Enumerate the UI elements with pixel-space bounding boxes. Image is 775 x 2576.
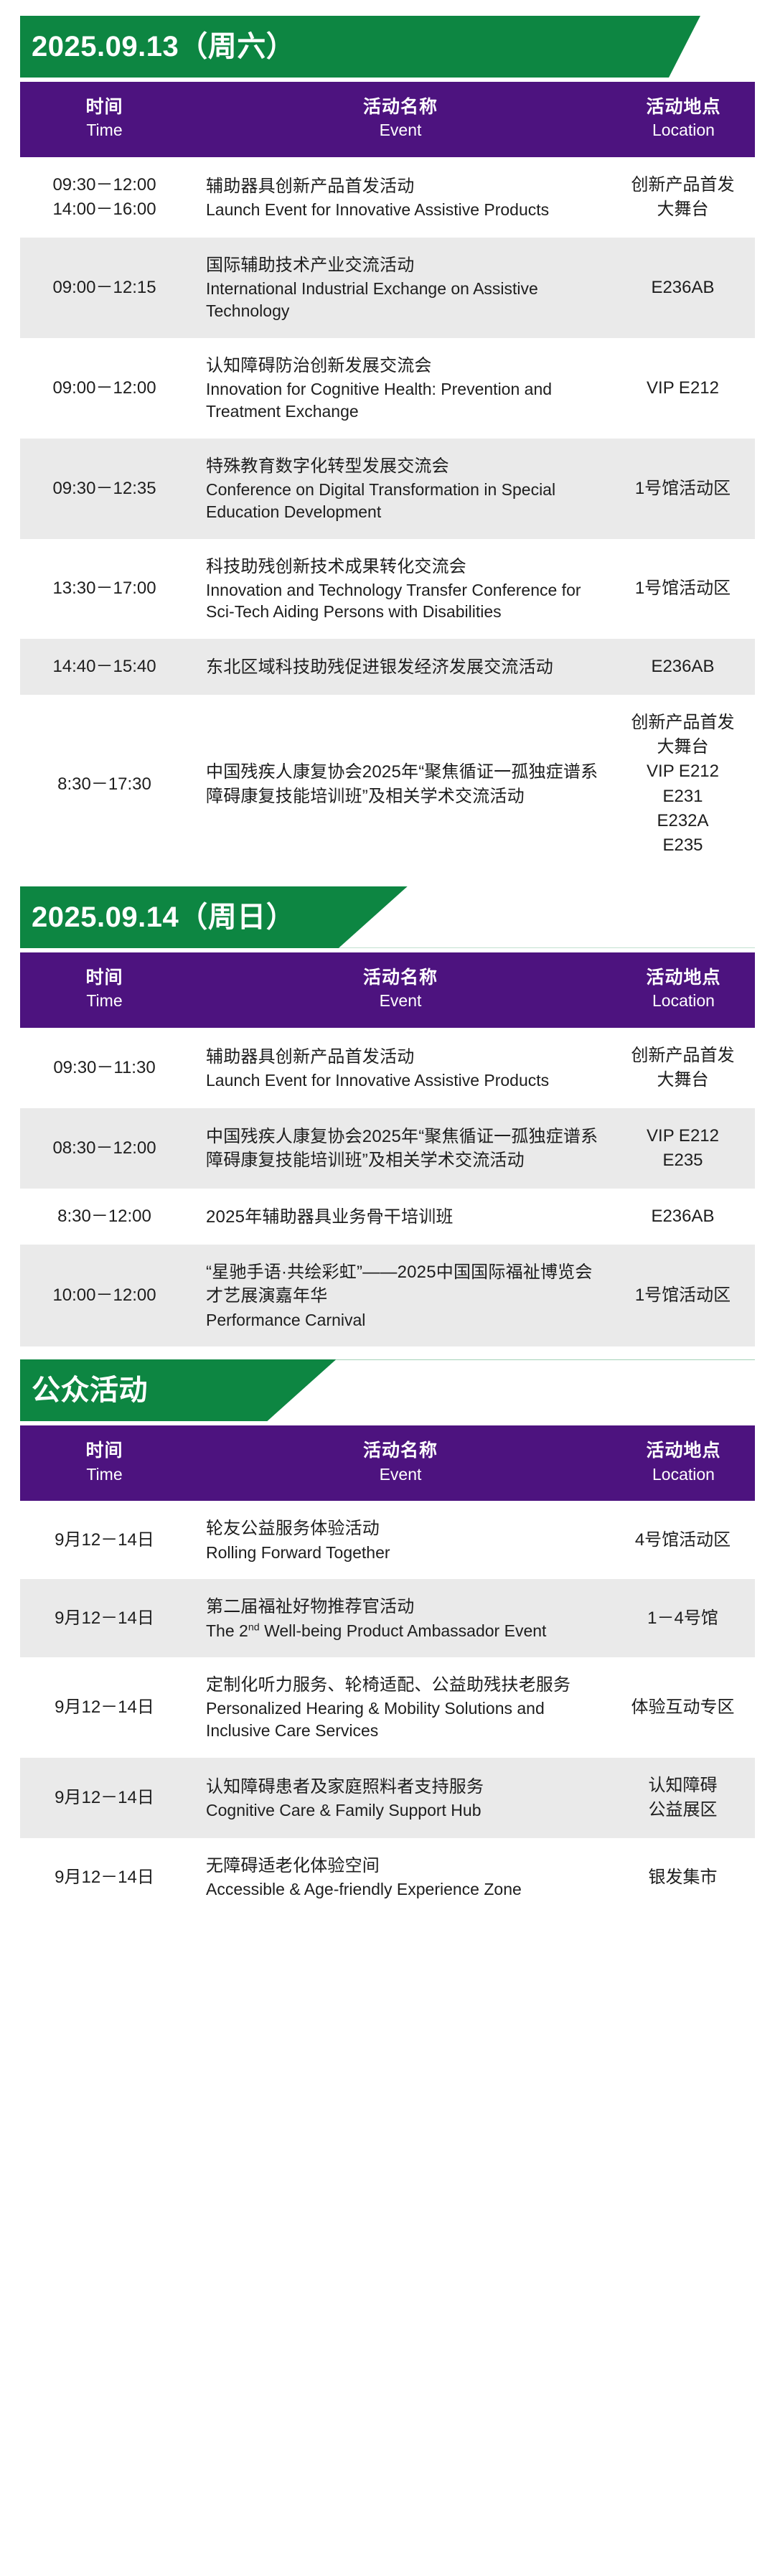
table-row: 09:30－11:30辅助器具创新产品首发活动Launch Event for … (20, 1028, 755, 1108)
column-header-location: 活动地点Location (612, 952, 755, 1028)
column-header-cn: 时间 (26, 967, 183, 989)
column-header-cn: 活动地点 (618, 96, 749, 118)
column-header-cn: 时间 (26, 96, 183, 118)
cell-time: 08:30－12:00 (20, 1108, 189, 1189)
table-row: 09:30－12:00 14:00－16:00辅助器具创新产品首发活动Launc… (20, 157, 755, 238)
column-header-location: 活动地点Location (612, 82, 755, 157)
cell-event: 中国残疾人康复协会2025年“聚焦循证一孤独症谱系障碍康复技能培训班”及相关学术… (189, 1108, 612, 1189)
table-header-row: 时间Time活动名称Event活动地点Location (20, 952, 755, 1028)
cell-time: 09:30－12:35 (20, 439, 189, 539)
cell-location: 银发集市 (612, 1838, 755, 1916)
event-name-cn: 轮友公益服务体验活动 (206, 1517, 602, 1540)
cell-location: E236AB (612, 1189, 755, 1245)
table-row: 9月12－14日无障碍适老化体验空间Accessible & Age-frien… (20, 1838, 755, 1916)
cell-location: 4号馆活动区 (612, 1501, 755, 1579)
cell-event: 认知障碍防治创新发展交流会Innovation for Cognitive He… (189, 338, 612, 439)
section-banner: 2025.09.13（周六） (20, 16, 755, 78)
sections-container: 2025.09.13（周六）时间Time活动名称Event活动地点Locatio… (20, 16, 755, 1916)
event-name-cn: “星驰手语·共绘彩虹”——2025中国国际福祉博览会才艺展演嘉年华 (206, 1260, 602, 1308)
cell-time: 9月12－14日 (20, 1579, 189, 1657)
cell-location: 1－4号馆 (612, 1579, 755, 1657)
cell-location: 认知障碍 公益展区 (612, 1758, 755, 1838)
cell-event: “星驰手语·共绘彩虹”——2025中国国际福祉博览会才艺展演嘉年华Perform… (189, 1245, 612, 1346)
column-header-event: 活动名称Event (189, 952, 612, 1028)
column-header-cn: 活动地点 (618, 1440, 749, 1462)
event-name-cn: 认知障碍患者及家庭照料者支持服务 (206, 1775, 602, 1799)
event-name-cn: 中国残疾人康复协会2025年“聚焦循证一孤独症谱系障碍康复技能培训班”及相关学术… (206, 1125, 602, 1172)
table-row: 9月12－14日第二届福祉好物推荐官活动The 2nd Well-being P… (20, 1579, 755, 1657)
section-title: 2025.09.13（周六） (20, 32, 295, 61)
section-banner: 2025.09.14（周日） (20, 886, 755, 948)
event-name-en-prefix: The 2 (206, 1621, 248, 1640)
table-row: 14:40－15:40东北区域科技助残促进银发经济发展交流活动E236AB (20, 639, 755, 695)
column-header-time: 时间Time (20, 82, 189, 157)
event-name-cn: 科技助残创新技术成果转化交流会 (206, 555, 602, 579)
cell-event: 定制化听力服务、轮椅适配、公益助残扶老服务Personalized Hearin… (189, 1657, 612, 1758)
table-header-row: 时间Time活动名称Event活动地点Location (20, 82, 755, 157)
cell-time: 9月12－14日 (20, 1758, 189, 1838)
schedule-page: 2025.09.13（周六）时间Time活动名称Event活动地点Locatio… (0, 16, 775, 2576)
table-row: 8:30－17:30中国残疾人康复协会2025年“聚焦循证一孤独症谱系障碍康复技… (20, 695, 755, 873)
column-header-time: 时间Time (20, 952, 189, 1028)
event-name-cn: 定制化听力服务、轮椅适配、公益助残扶老服务 (206, 1673, 602, 1697)
event-name-cn: 无障碍适老化体验空间 (206, 1854, 602, 1878)
event-name-cn: 2025年辅助器具业务骨干培训班 (206, 1205, 602, 1229)
cell-location: 1号馆活动区 (612, 1245, 755, 1346)
schedule-table: 时间Time活动名称Event活动地点Location09:30－11:30辅助… (20, 952, 755, 1347)
schedule-table: 时间Time活动名称Event活动地点Location09:30－12:00 1… (20, 82, 755, 874)
cell-time: 14:40－15:40 (20, 639, 189, 695)
table-row: 09:00－12:00认知障碍防治创新发展交流会Innovation for C… (20, 338, 755, 439)
column-header-en: Time (26, 120, 183, 141)
column-header-en: Location (618, 1464, 749, 1486)
event-name-cn: 辅助器具创新产品首发活动 (206, 1045, 602, 1069)
section-banner: 公众活动 (20, 1359, 755, 1421)
cell-time: 9月12－14日 (20, 1838, 189, 1916)
column-header-en: Time (26, 990, 183, 1012)
table-row: 9月12－14日认知障碍患者及家庭照料者支持服务Cognitive Care &… (20, 1758, 755, 1838)
event-name-en: Performance Carnival (206, 1309, 602, 1331)
cell-time: 13:30－17:00 (20, 539, 189, 640)
cell-location: 创新产品首发 大舞台 (612, 1028, 755, 1108)
column-header-en: Location (618, 990, 749, 1012)
event-name-en: Conference on Digital Transformation in … (206, 479, 602, 523)
cell-time: 8:30－12:00 (20, 1189, 189, 1245)
table-row: 08:30－12:00中国残疾人康复协会2025年“聚焦循证一孤独症谱系障碍康复… (20, 1108, 755, 1189)
cell-time: 9月12－14日 (20, 1657, 189, 1758)
cell-time: 8:30－17:30 (20, 695, 189, 873)
section-title: 2025.09.14（周日） (20, 903, 295, 932)
cell-location: 创新产品首发 大舞台 (612, 157, 755, 238)
column-header-cn: 活动名称 (194, 1440, 606, 1462)
ordinal-suffix: nd (248, 1621, 260, 1633)
event-name-cn: 东北区域科技助残促进银发经济发展交流活动 (206, 655, 602, 679)
table-row: 09:30－12:35特殊教育数字化转型发展交流会Conference on D… (20, 439, 755, 539)
column-header-cn: 时间 (26, 1440, 183, 1462)
cell-location: 1号馆活动区 (612, 539, 755, 640)
table-row: 9月12－14日定制化听力服务、轮椅适配、公益助残扶老服务Personalize… (20, 1657, 755, 1758)
column-header-en: Location (618, 120, 749, 141)
event-name-en: Innovation for Cognitive Health: Prevent… (206, 378, 602, 423)
cell-time: 09:00－12:00 (20, 338, 189, 439)
cell-time: 09:30－12:00 14:00－16:00 (20, 157, 189, 238)
cell-location: E236AB (612, 639, 755, 695)
column-header-en: Event (194, 1464, 606, 1486)
table-row: 09:00－12:15国际辅助技术产业交流活动International Ind… (20, 238, 755, 338)
table-header-row: 时间Time活动名称Event活动地点Location (20, 1425, 755, 1501)
column-header-event: 活动名称Event (189, 82, 612, 157)
column-header-en: Event (194, 120, 606, 141)
event-name-cn: 国际辅助技术产业交流活动 (206, 253, 602, 277)
table-row: 9月12－14日轮友公益服务体验活动Rolling Forward Togeth… (20, 1501, 755, 1579)
event-name-cn: 第二届福祉好物推荐官活动 (206, 1595, 602, 1619)
cell-location: VIP E212 E235 (612, 1108, 755, 1189)
cell-location: E236AB (612, 238, 755, 338)
cell-event: 辅助器具创新产品首发活动Launch Event for Innovative … (189, 1028, 612, 1108)
cell-event: 国际辅助技术产业交流活动International Industrial Exc… (189, 238, 612, 338)
column-header-event: 活动名称Event (189, 1425, 612, 1501)
cell-location: VIP E212 (612, 338, 755, 439)
event-name-cn: 认知障碍防治创新发展交流会 (206, 354, 602, 378)
event-name-en: International Industrial Exchange on Ass… (206, 278, 602, 322)
cell-event: 轮友公益服务体验活动Rolling Forward Together (189, 1501, 612, 1579)
event-name-en-suffix: Well-being Product Ambassador Event (260, 1621, 547, 1640)
event-name-en: The 2nd Well-being Product Ambassador Ev… (206, 1620, 602, 1642)
cell-event: 特殊教育数字化转型发展交流会Conference on Digital Tran… (189, 439, 612, 539)
column-header-cn: 活动地点 (618, 967, 749, 989)
cell-time: 09:30－11:30 (20, 1028, 189, 1108)
cell-location: 1号馆活动区 (612, 439, 755, 539)
cell-time: 9月12－14日 (20, 1501, 189, 1579)
column-header-en: Event (194, 990, 606, 1012)
cell-location: 体验互动专区 (612, 1657, 755, 1758)
event-name-cn: 辅助器具创新产品首发活动 (206, 174, 602, 198)
event-name-en: Launch Event for Innovative Assistive Pr… (206, 1069, 602, 1092)
event-name-en: Rolling Forward Together (206, 1542, 602, 1564)
table-row: 10:00－12:00“星驰手语·共绘彩虹”——2025中国国际福祉博览会才艺展… (20, 1245, 755, 1346)
schedule-table: 时间Time活动名称Event活动地点Location9月12－14日轮友公益服… (20, 1425, 755, 1916)
cell-event: 认知障碍患者及家庭照料者支持服务Cognitive Care & Family … (189, 1758, 612, 1838)
column-header-location: 活动地点Location (612, 1425, 755, 1501)
column-header-cn: 活动名称 (194, 96, 606, 118)
event-name-en: Cognitive Care & Family Support Hub (206, 1799, 602, 1822)
cell-event: 2025年辅助器具业务骨干培训班 (189, 1189, 612, 1245)
cell-event: 科技助残创新技术成果转化交流会Innovation and Technology… (189, 539, 612, 640)
table-row: 8:30－12:002025年辅助器具业务骨干培训班E236AB (20, 1189, 755, 1245)
cell-location: 创新产品首发 大舞台 VIP E212 E231 E232A E235 (612, 695, 755, 873)
column-header-en: Time (26, 1464, 183, 1486)
cell-time: 09:00－12:15 (20, 238, 189, 338)
event-name-en: Innovation and Technology Transfer Confe… (206, 579, 602, 624)
cell-event: 第二届福祉好物推荐官活动The 2nd Well-being Product A… (189, 1579, 612, 1657)
event-name-cn: 中国残疾人康复协会2025年“聚焦循证一孤独症谱系障碍康复技能培训班”及相关学术… (206, 760, 602, 807)
event-name-en: Accessible & Age-friendly Experience Zon… (206, 1878, 602, 1901)
cell-event: 东北区域科技助残促进银发经济发展交流活动 (189, 639, 612, 695)
cell-event: 辅助器具创新产品首发活动Launch Event for Innovative … (189, 157, 612, 238)
section-title: 公众活动 (20, 1376, 148, 1405)
event-name-en: Personalized Hearing & Mobility Solution… (206, 1697, 602, 1742)
cell-event: 中国残疾人康复协会2025年“聚焦循证一孤独症谱系障碍康复技能培训班”及相关学术… (189, 695, 612, 873)
cell-time: 10:00－12:00 (20, 1245, 189, 1346)
event-name-en: Launch Event for Innovative Assistive Pr… (206, 199, 602, 221)
event-name-cn: 特殊教育数字化转型发展交流会 (206, 454, 602, 478)
column-header-time: 时间Time (20, 1425, 189, 1501)
column-header-cn: 活动名称 (194, 967, 606, 989)
cell-event: 无障碍适老化体验空间Accessible & Age-friendly Expe… (189, 1838, 612, 1916)
table-row: 13:30－17:00科技助残创新技术成果转化交流会Innovation and… (20, 539, 755, 640)
